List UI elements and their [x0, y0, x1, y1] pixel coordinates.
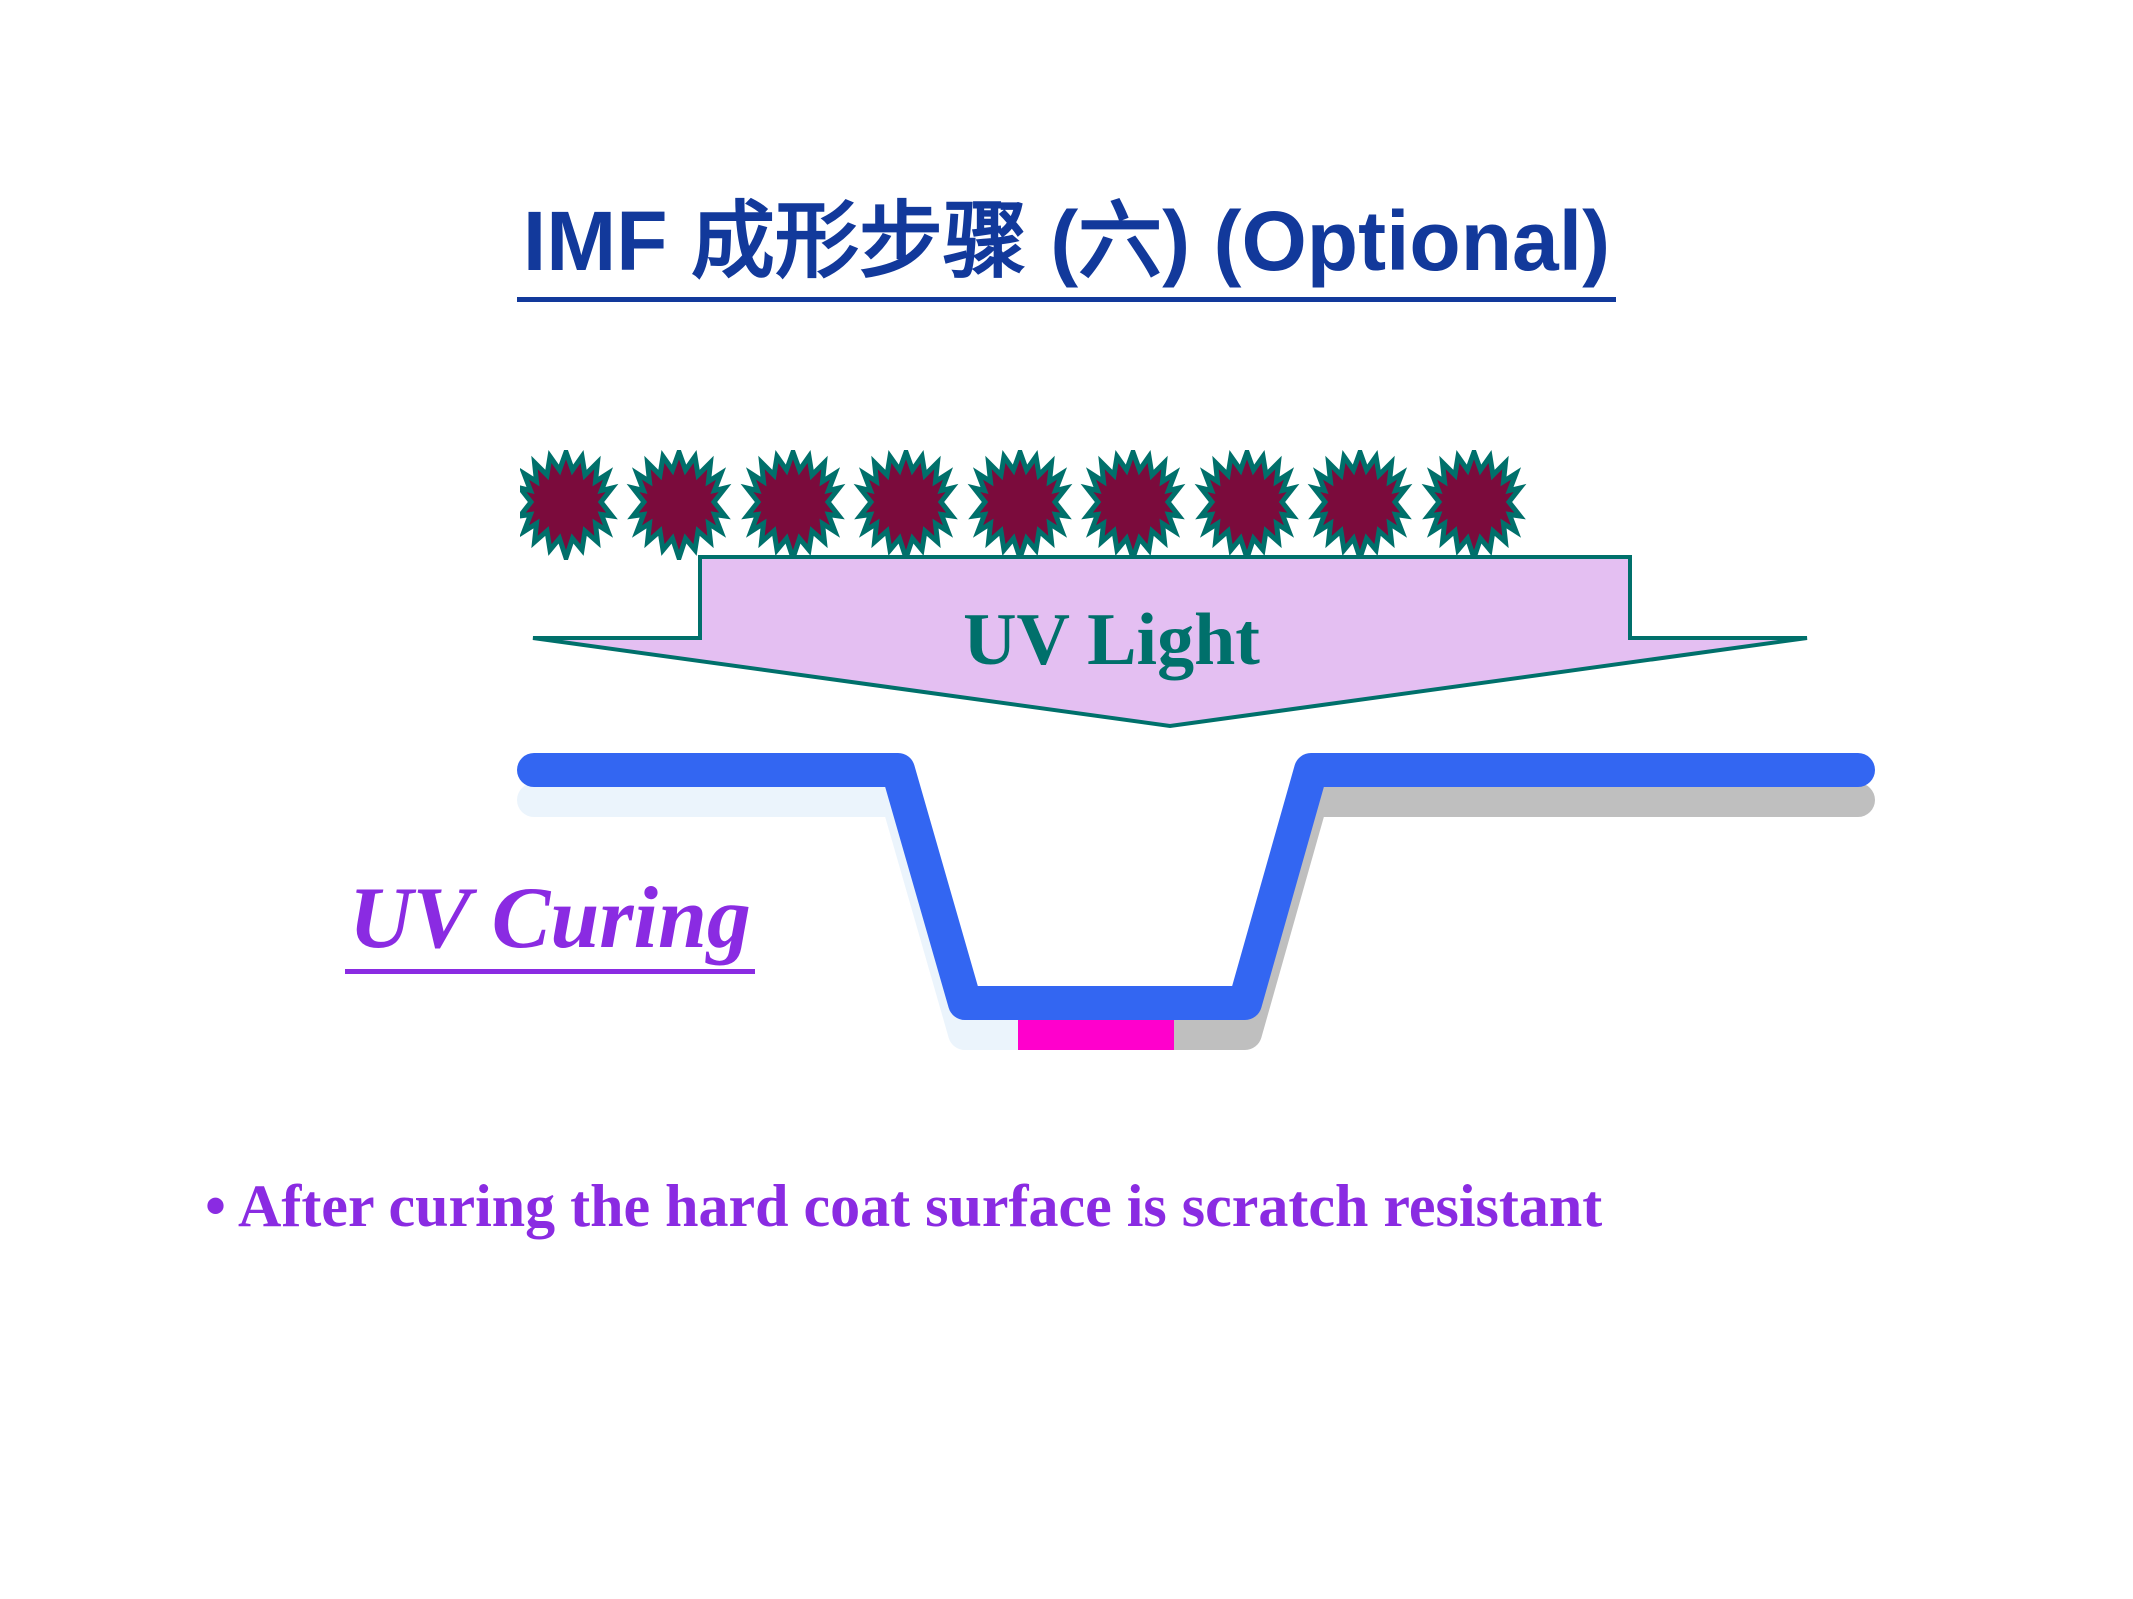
lamp-8 — [1314, 452, 1406, 558]
lamp-6 — [1087, 452, 1179, 558]
uv-lamp-row — [520, 450, 1840, 560]
list-item: •After curing the hard coat surface is s… — [205, 1172, 2005, 1241]
page-title: IMF 成形步骤 (六) (Optional) — [517, 196, 1616, 302]
uv-curing-label: UV Curing — [345, 872, 755, 974]
lamp-5 — [974, 452, 1066, 558]
uv-light-arrow-svg — [520, 548, 1820, 738]
slide-canvas: IMF 成形步骤 (六) (Optional) — [0, 0, 2133, 1599]
uv-light-arrow — [520, 548, 1820, 738]
lamp-9 — [1428, 452, 1520, 558]
bullet-list: •After curing the hard coat surface is s… — [205, 1172, 2005, 1241]
lamp-7 — [1201, 452, 1293, 558]
ink-layer-center — [1018, 1016, 1174, 1050]
title-block: IMF 成形步骤 (六) (Optional) — [0, 196, 2133, 302]
lamp-3 — [747, 452, 839, 558]
bullet-text: After curing the hard coat surface is sc… — [238, 1173, 1602, 1239]
lamp-4 — [860, 452, 952, 558]
uv-curing-caption: UV Curing — [345, 872, 755, 974]
uv-light-arrow-shape — [533, 557, 1807, 726]
bullet-marker-icon: • — [205, 1172, 226, 1241]
lamp-1 — [520, 452, 612, 558]
uv-lamp-row-svg — [520, 450, 1840, 560]
lamp-2 — [633, 452, 725, 558]
